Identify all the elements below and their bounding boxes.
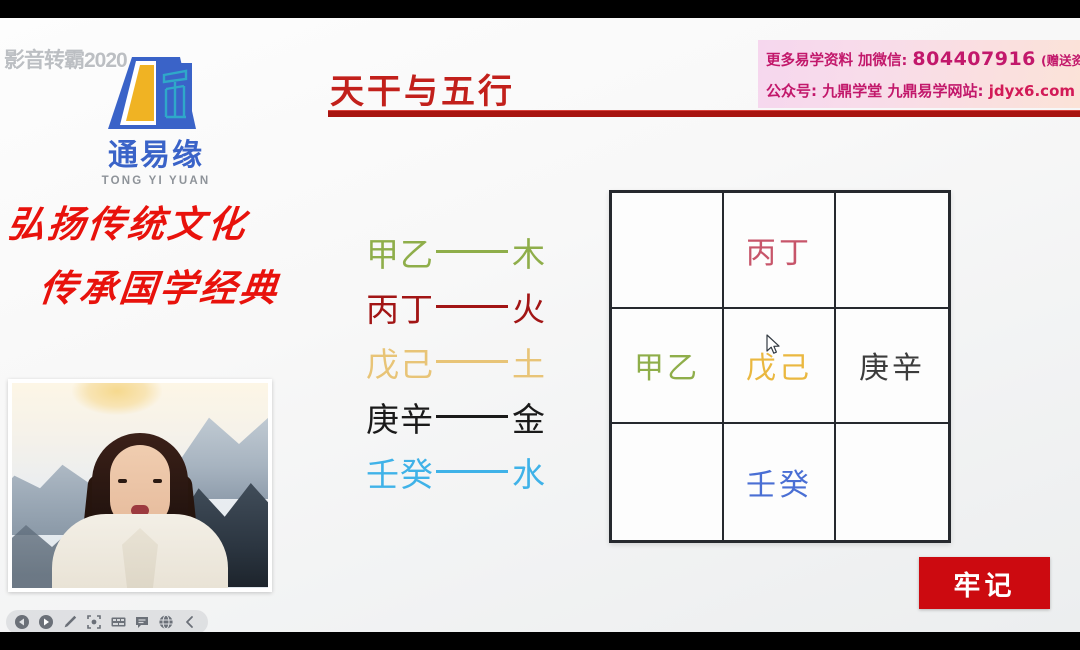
list-item-stems: 戊己 bbox=[366, 338, 434, 386]
grid-cell: 戊己 bbox=[724, 309, 836, 425]
list-item-stems: 丙丁 bbox=[366, 283, 434, 331]
five-element-position-grid: 丙丁 甲乙 戊己 庚辛 壬癸 bbox=[609, 190, 951, 543]
presenter-eye-right bbox=[153, 479, 162, 483]
video-player-screen: 影音转霸2020 通易缘 TONG YI YUAN bbox=[0, 0, 1080, 650]
slide-canvas: 影音转霸2020 通易缘 TONG YI YUAN bbox=[0, 18, 1080, 632]
list-item-dash-icon bbox=[436, 415, 508, 418]
calligraphy-slogan: 弘扬传统文化 传承国学经典 bbox=[0, 194, 320, 312]
promo-account-name: 九鼎学堂 bbox=[822, 82, 882, 100]
play-icon[interactable] bbox=[36, 612, 56, 632]
list-item: 甲乙 木 bbox=[366, 224, 546, 279]
list-item-element: 木 bbox=[512, 228, 546, 276]
promo-account-label: 公众号: bbox=[766, 82, 817, 100]
presenter-video[interactable] bbox=[8, 379, 272, 592]
letterbox-bottom bbox=[0, 632, 1080, 650]
promo-line-wechat: 更多易学资料 加微信: 804407916 (赠送资料) bbox=[766, 44, 1080, 76]
list-item-dash-icon bbox=[436, 305, 508, 308]
screenshot-icon[interactable] bbox=[84, 612, 104, 632]
list-item-element: 金 bbox=[512, 393, 546, 441]
grid-cell: 庚辛 bbox=[836, 309, 948, 425]
list-item-stems: 壬癸 bbox=[366, 448, 434, 496]
grid-cell: 壬癸 bbox=[724, 424, 836, 540]
list-item-stems: 庚辛 bbox=[366, 393, 434, 441]
presenter-eye-left bbox=[118, 479, 127, 483]
logo-pinyin-name: TONG YI YUAN bbox=[88, 175, 224, 187]
promo-website-url: jdyx6.com bbox=[989, 82, 1075, 100]
list-item: 壬癸 水 bbox=[366, 444, 546, 499]
list-item-element: 土 bbox=[512, 338, 546, 386]
list-item: 丙丁 火 bbox=[366, 279, 546, 334]
promo-wechat-label: 更多易学资料 加微信: bbox=[766, 53, 907, 69]
rewind-icon[interactable] bbox=[12, 612, 32, 632]
globe-icon[interactable] bbox=[156, 612, 176, 632]
promo-banner: 更多易学资料 加微信: 804407916 (赠送资料) 公众号: 九鼎学堂 九… bbox=[758, 40, 1080, 108]
remember-button[interactable]: 牢记 bbox=[919, 557, 1050, 609]
grid-cell bbox=[612, 424, 724, 540]
promo-wechat-note: (赠送资料) bbox=[1041, 53, 1080, 68]
letterbox-top bbox=[0, 0, 1080, 18]
list-item-element: 水 bbox=[512, 448, 546, 496]
promo-website-label: 九鼎易学网站: bbox=[887, 82, 983, 100]
list-item-dash-icon bbox=[436, 360, 508, 363]
grid-cell: 丙丁 bbox=[724, 193, 836, 309]
calligraphy-line-2: 传承国学经典 bbox=[0, 258, 323, 312]
list-item: 戊己 土 bbox=[366, 334, 546, 389]
software-watermark: 影音转霸2020 bbox=[4, 44, 127, 74]
grid-cell bbox=[836, 193, 948, 309]
calligraphy-line-1: 弘扬传统文化 bbox=[0, 194, 323, 248]
title-underline-rule bbox=[328, 110, 1080, 117]
whiteboard-icon[interactable] bbox=[108, 612, 128, 632]
pen-icon[interactable] bbox=[60, 612, 80, 632]
grid-cell bbox=[836, 424, 948, 540]
list-item-element: 火 bbox=[512, 283, 546, 331]
page-title: 天干与五行 bbox=[330, 64, 515, 113]
presenter-video-frame bbox=[12, 383, 268, 588]
list-item-dash-icon bbox=[436, 250, 508, 253]
grid-cell: 甲乙 bbox=[612, 309, 724, 425]
promo-line-account: 公众号: 九鼎学堂 九鼎易学网站: jdyx6.com bbox=[766, 76, 1080, 106]
collapse-icon[interactable] bbox=[180, 612, 200, 632]
logo-chinese-name: 通易缘 bbox=[88, 139, 224, 173]
sun-decoration bbox=[72, 383, 162, 415]
promo-wechat-number: 804407916 bbox=[912, 48, 1035, 70]
list-item-stems: 甲乙 bbox=[366, 228, 434, 276]
list-item: 庚辛 金 bbox=[366, 389, 546, 444]
stem-element-list: 甲乙 木 丙丁 火 戊己 土 庚辛 金 壬癸 水 bbox=[366, 224, 546, 499]
grid-cell bbox=[612, 193, 724, 309]
list-item-dash-icon bbox=[436, 470, 508, 473]
chat-icon[interactable] bbox=[132, 612, 152, 632]
mouse-cursor-icon bbox=[765, 334, 783, 358]
player-toolbar[interactable] bbox=[6, 610, 208, 632]
